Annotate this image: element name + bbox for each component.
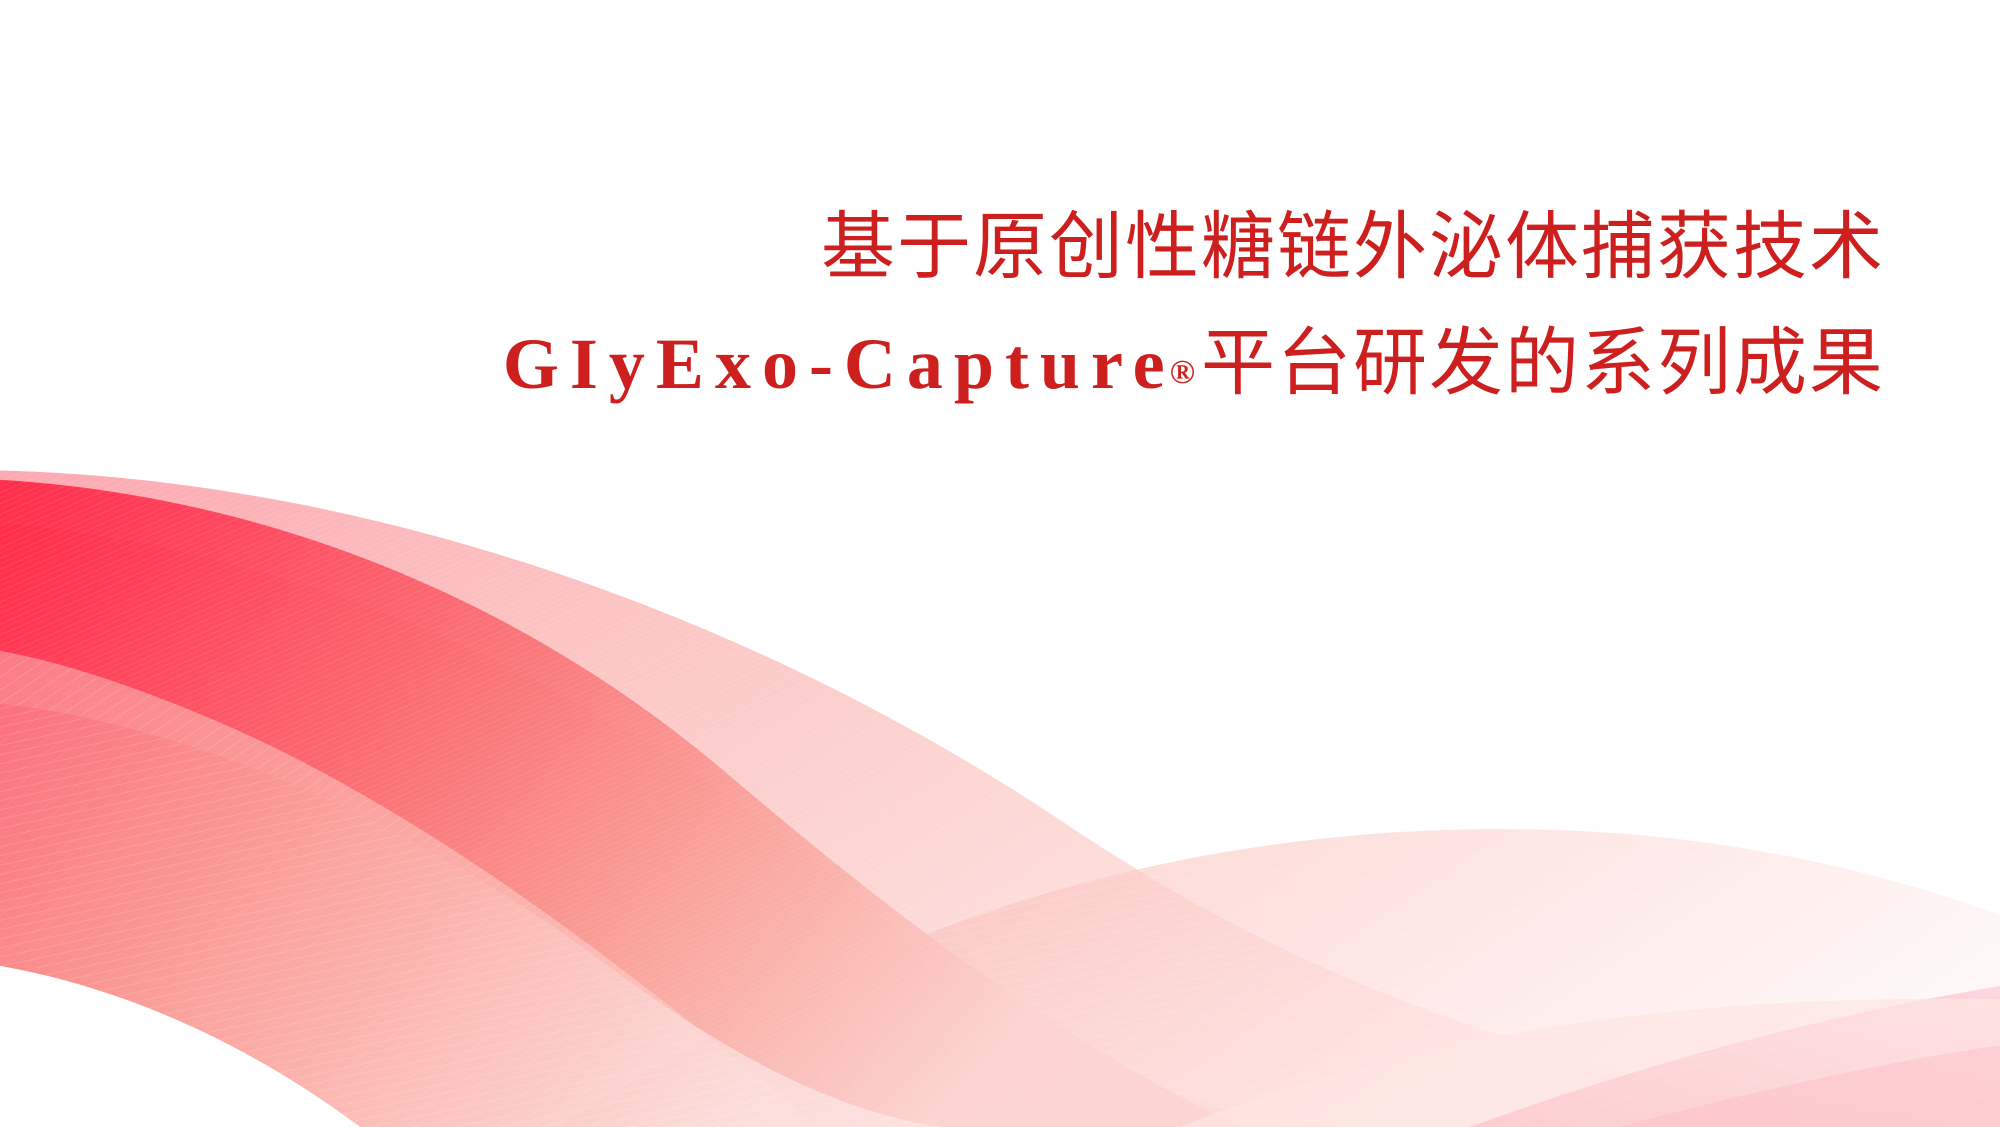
- wave-band-right-tail: [560, 829, 2000, 1127]
- platform-brand-name: GIyExo-Capture: [503, 324, 1176, 404]
- wave-band-primary-core: [0, 478, 1240, 1127]
- title-line-secondary: GIyExo-Capture®平台研发的系列成果: [0, 326, 1885, 400]
- wave-right-haze: [1180, 999, 2000, 1127]
- wave-white-notch: [0, 960, 360, 1127]
- registered-trademark-icon: ®: [1170, 354, 1195, 391]
- title-line-primary: 基于原创性糖链外泌体捕获技术: [0, 210, 1885, 284]
- wave-band-bottom-right: [1470, 980, 2000, 1127]
- abstract-wave-decoration: [0, 0, 2000, 1127]
- wave-band-mid-sweep: [0, 520, 1360, 1127]
- slide-canvas: 基于原创性糖链外泌体捕获技术 GIyExo-Capture®平台研发的系列成果: [0, 0, 2000, 1127]
- slide-title-block: 基于原创性糖链外泌体捕获技术 GIyExo-Capture®平台研发的系列成果: [0, 210, 1885, 400]
- wave-band-upper-arc: [0, 470, 2000, 1127]
- title-line-secondary-suffix: 平台研发的系列成果: [1201, 321, 1885, 404]
- wave-band-lower-sweep: [0, 700, 940, 1127]
